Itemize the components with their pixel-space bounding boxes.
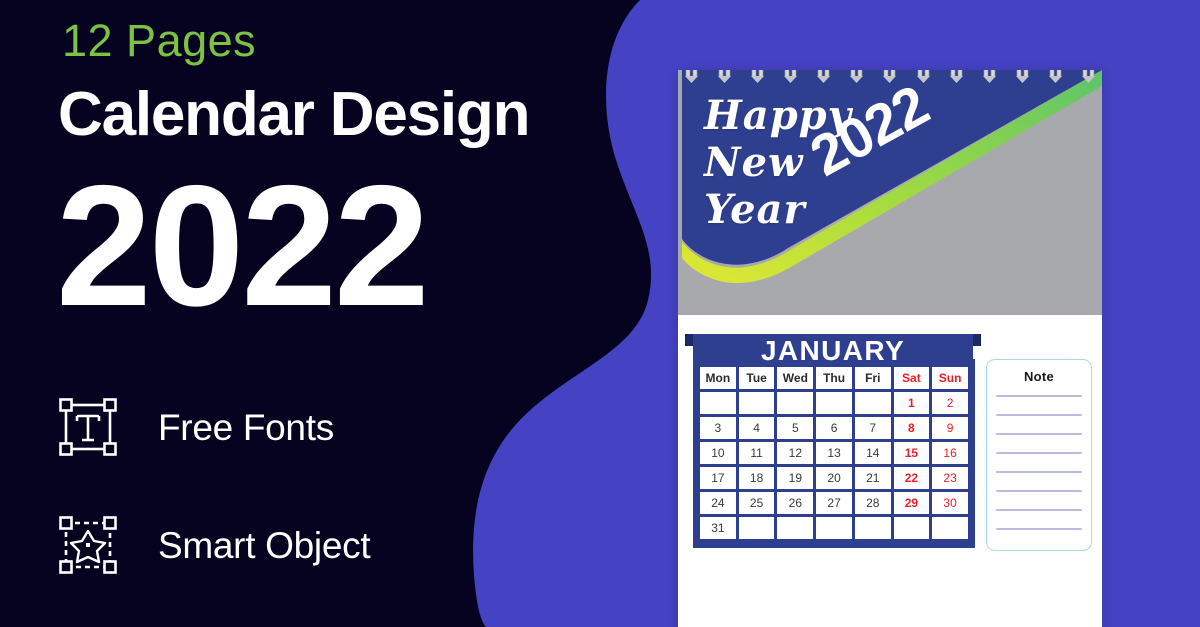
calendar-preview: Happy New Year 2022 JANUARY M <box>678 70 1102 627</box>
page-title: Calendar Design <box>58 84 529 146</box>
calendar-day-5[interactable]: 5 <box>777 417 813 439</box>
note-rule-line <box>996 433 1082 435</box>
feature-item-free-fonts: Free Fonts <box>56 368 576 486</box>
note-rule-line <box>996 395 1082 397</box>
spiral-ring <box>1081 70 1096 84</box>
calendar-day-21[interactable]: 21 <box>855 467 891 489</box>
note-rule-line <box>996 509 1082 511</box>
weekday-header-fri: Fri <box>855 367 891 389</box>
calendar-day-12[interactable]: 12 <box>777 442 813 464</box>
calendar-day-empty <box>739 517 775 539</box>
feature-label: Smart Object <box>158 527 370 564</box>
calendar-week-row: 10111213141516 <box>700 442 968 464</box>
calendar-week-row: 12 <box>700 392 968 414</box>
calendar-day-7[interactable]: 7 <box>855 417 891 439</box>
spiral-ring <box>684 70 699 84</box>
calendar-day-25[interactable]: 25 <box>739 492 775 514</box>
note-box[interactable]: Note <box>986 359 1092 551</box>
note-title: Note <box>996 369 1082 384</box>
promo-content: 12 Pages Calendar Design 2022 <box>0 0 640 627</box>
weekday-header-sat: Sat <box>894 367 930 389</box>
calendar-day-empty <box>894 517 930 539</box>
calendar-day-22[interactable]: 22 <box>894 467 930 489</box>
feature-item-smart-object: Smart Object <box>56 486 576 604</box>
calendar-day-14[interactable]: 14 <box>855 442 891 464</box>
poster-canvas: 12 Pages Calendar Design 2022 <box>0 0 1200 627</box>
feature-item-layered: Layered <box>56 604 576 627</box>
note-rule-line <box>996 471 1082 473</box>
calendar-day-16[interactable]: 16 <box>932 442 968 464</box>
spiral-ring <box>816 70 831 84</box>
calendar-day-empty <box>700 392 736 414</box>
weekday-header-sun: Sun <box>932 367 968 389</box>
left-promo-panel: 12 Pages Calendar Design 2022 <box>0 0 700 627</box>
calendar-week-row: 24252627282930 <box>700 492 968 514</box>
calendar-body: JANUARY MonTueWedThuFriSatSun 1234567891… <box>678 315 1102 627</box>
calendar-week-row: 17181920212223 <box>700 467 968 489</box>
calendar-day-empty <box>816 517 852 539</box>
calendar-day-27[interactable]: 27 <box>816 492 852 514</box>
calendar-day-23[interactable]: 23 <box>932 467 968 489</box>
note-rule-line <box>996 528 1082 530</box>
calendar-day-26[interactable]: 26 <box>777 492 813 514</box>
calendar-day-3[interactable]: 3 <box>700 417 736 439</box>
calendar-day-empty <box>777 517 813 539</box>
calendar-day-11[interactable]: 11 <box>739 442 775 464</box>
calendar-week-row: 3456789 <box>700 417 968 439</box>
calendar-day-8[interactable]: 8 <box>894 417 930 439</box>
spiral-ring <box>916 70 931 84</box>
feature-list: Free Fonts <box>56 368 576 627</box>
spiral-ring <box>882 70 897 84</box>
calendar-day-empty <box>932 517 968 539</box>
month-banner: JANUARY <box>685 334 981 372</box>
calendar-day-28[interactable]: 28 <box>855 492 891 514</box>
spiral-binding <box>678 70 1102 84</box>
weekday-header-wed: Wed <box>777 367 813 389</box>
calendar-grid-container: MonTueWedThuFriSatSun 123456789101112131… <box>693 359 975 548</box>
weekday-header-tue: Tue <box>739 367 775 389</box>
calendar-day-6[interactable]: 6 <box>816 417 852 439</box>
spiral-ring <box>783 70 798 84</box>
spiral-ring <box>717 70 732 84</box>
spiral-ring <box>1015 70 1030 84</box>
calendar-day-24[interactable]: 24 <box>700 492 736 514</box>
calendar-day-10[interactable]: 10 <box>700 442 736 464</box>
calendar-day-13[interactable]: 13 <box>816 442 852 464</box>
calendar-day-empty <box>855 392 891 414</box>
calendar-day-empty <box>777 392 813 414</box>
smart-object-star-icon <box>56 513 120 577</box>
calendar-day-31[interactable]: 31 <box>700 517 736 539</box>
feature-label: Free Fonts <box>158 409 334 446</box>
calendar-day-4[interactable]: 4 <box>739 417 775 439</box>
spiral-ring <box>949 70 964 84</box>
calendar-day-empty <box>739 392 775 414</box>
calendar-day-9[interactable]: 9 <box>932 417 968 439</box>
weekday-header-mon: Mon <box>700 367 736 389</box>
calendar-day-29[interactable]: 29 <box>894 492 930 514</box>
calendar-day-19[interactable]: 19 <box>777 467 813 489</box>
spiral-ring <box>982 70 997 84</box>
weekday-header-row: MonTueWedThuFriSatSun <box>700 367 968 389</box>
calendar-day-15[interactable]: 15 <box>894 442 930 464</box>
spiral-ring <box>849 70 864 84</box>
calendar-day-empty <box>816 392 852 414</box>
calendar-day-2[interactable]: 2 <box>932 392 968 414</box>
promo-year: 2022 <box>56 160 427 332</box>
note-lines <box>996 395 1082 530</box>
calendar-day-17[interactable]: 17 <box>700 467 736 489</box>
text-transform-icon <box>56 395 120 459</box>
spiral-ring <box>1048 70 1063 84</box>
calendar-hero: Happy New Year 2022 <box>678 70 1102 315</box>
promo-kicker: 12 Pages <box>62 18 256 63</box>
calendar-grid: MonTueWedThuFriSatSun 123456789101112131… <box>697 364 971 542</box>
note-rule-line <box>996 490 1082 492</box>
note-rule-line <box>996 414 1082 416</box>
calendar-week-row: 31 <box>700 517 968 539</box>
spiral-ring <box>750 70 765 84</box>
calendar-day-18[interactable]: 18 <box>739 467 775 489</box>
weekday-header-thu: Thu <box>816 367 852 389</box>
calendar-day-1[interactable]: 1 <box>894 392 930 414</box>
month-label: JANUARY <box>685 334 981 368</box>
calendar-day-30[interactable]: 30 <box>932 492 968 514</box>
note-rule-line <box>996 452 1082 454</box>
calendar-day-20[interactable]: 20 <box>816 467 852 489</box>
calendar-day-empty <box>855 517 891 539</box>
